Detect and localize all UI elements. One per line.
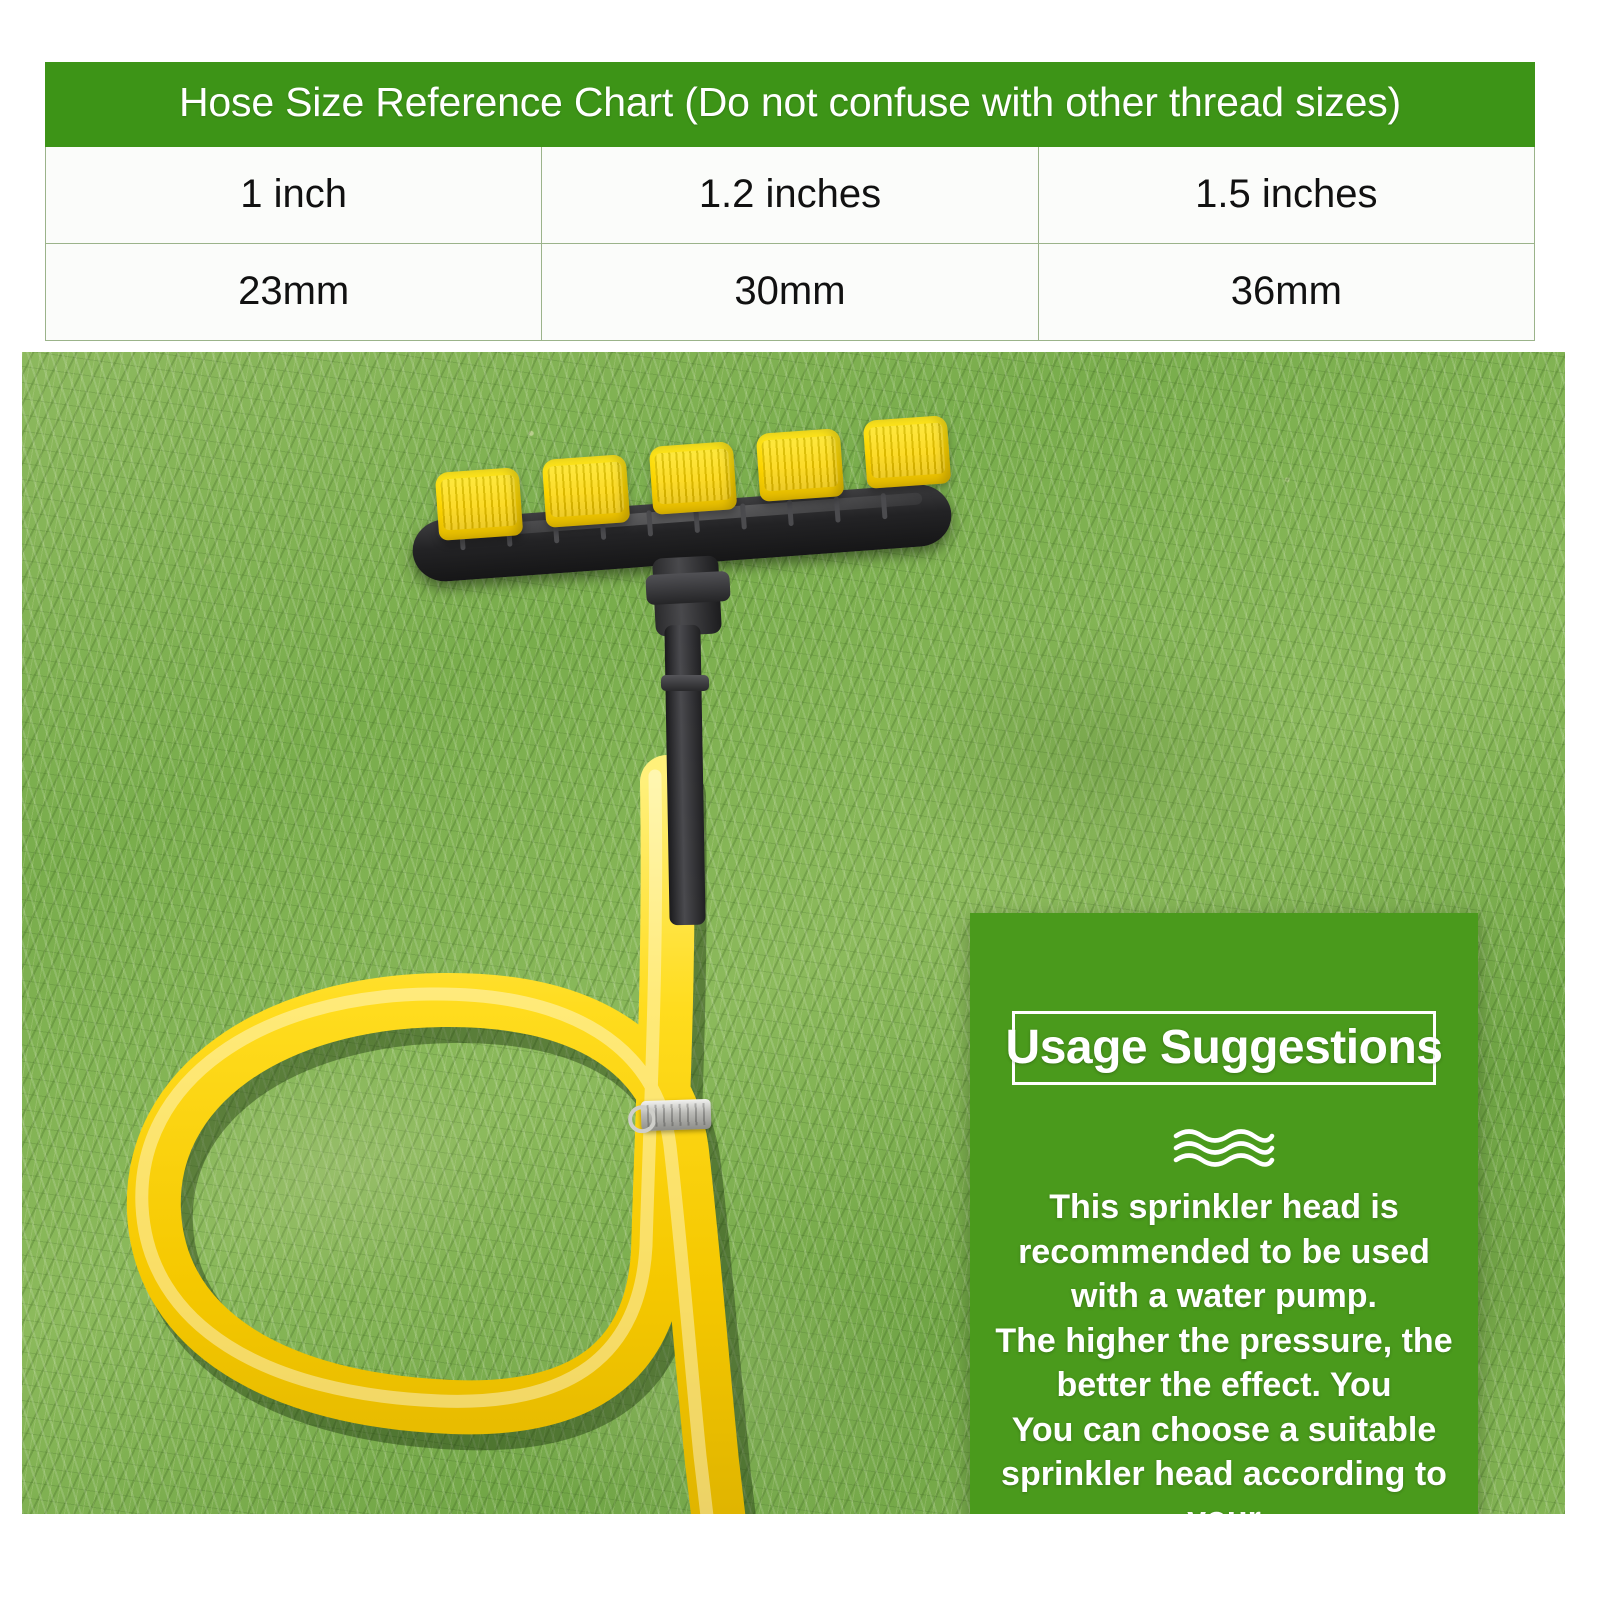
- hose-size-reference-table: Hose Size Reference Chart (Do not confus…: [45, 62, 1535, 341]
- table-row-inches: 1 inch 1.2 inches 1.5 inches: [46, 147, 1535, 244]
- usage-title: Usage Suggestions: [1006, 1024, 1443, 1072]
- waves-icon: [1170, 1125, 1278, 1171]
- nozzle-cap-1: [435, 467, 524, 541]
- nozzle-cap-2: [542, 454, 631, 528]
- size-cell-mm-3: 36mm: [1038, 244, 1534, 341]
- usage-body-text: This sprinkler head is recommended to be…: [984, 1185, 1464, 1514]
- sprinkler-head-assembly: [402, 407, 962, 1167]
- size-cell-mm-1: 23mm: [46, 244, 542, 341]
- table-header-row: Hose Size Reference Chart (Do not confus…: [46, 63, 1535, 147]
- size-cell-inches-3: 1.5 inches: [1038, 147, 1534, 244]
- table-header-title: Hose Size Reference Chart (Do not confus…: [46, 63, 1535, 147]
- table-row-mm: 23mm 30mm 36mm: [46, 244, 1535, 341]
- nozzle-cap-4: [756, 428, 845, 502]
- size-cell-mm-2: 30mm: [542, 244, 1038, 341]
- nozzle-cap-5: [863, 415, 952, 489]
- size-cell-inches-1: 1 inch: [46, 147, 542, 244]
- sprinkler-stem: [664, 625, 705, 926]
- size-cell-inches-2: 1.2 inches: [542, 147, 1038, 244]
- usage-suggestions-panel: Usage Suggestions This sprinkler head is…: [970, 913, 1478, 1514]
- sprinkler-stem-ring: [661, 675, 709, 691]
- sprinkler-collar: [645, 571, 730, 605]
- product-photo: Usage Suggestions This sprinkler head is…: [22, 352, 1565, 1514]
- nozzle-cap-3: [649, 441, 738, 515]
- usage-title-box: Usage Suggestions: [1012, 1011, 1436, 1085]
